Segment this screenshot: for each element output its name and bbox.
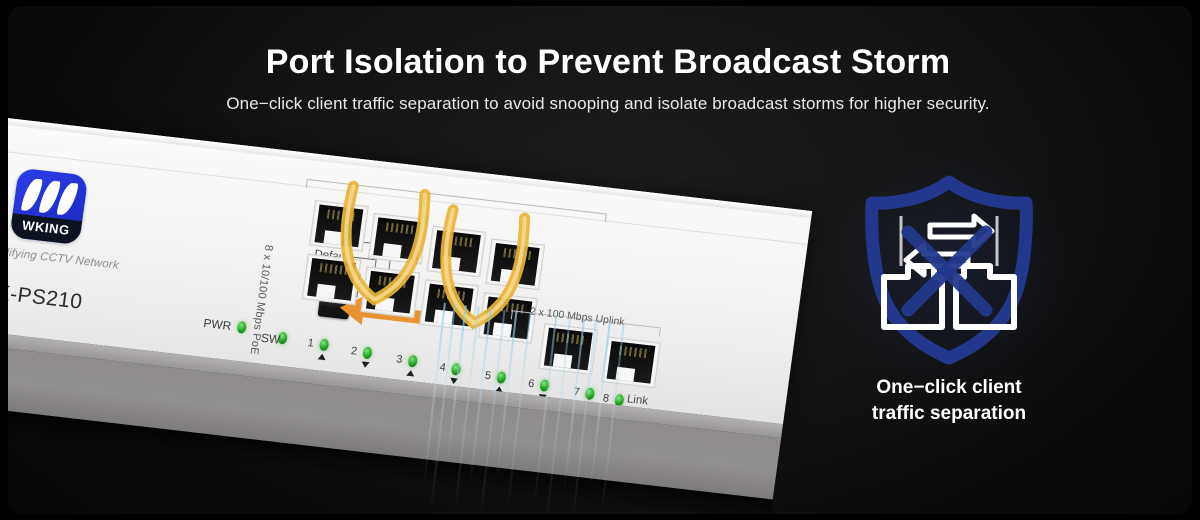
fiber-light-streaks [412,302,766,514]
promo-banner: Port Isolation to Prevent Broadcast Stor… [0,0,1200,520]
feature-caption-line2: traffic separation [846,401,1052,427]
port-led-label-3: 3 [395,353,403,366]
logo-waves [20,177,80,217]
dark-panel: Port Isolation to Prevent Broadcast Stor… [8,6,1192,514]
port-5[interactable] [427,226,487,278]
port-3[interactable] [368,213,428,265]
switch-led-label: SW [260,331,281,347]
feature-caption: One−click client traffic separation [846,375,1052,427]
logo-text: WKING [10,216,82,239]
feature-caption-line1: One−click client [846,375,1052,401]
port-led-3 [407,355,418,368]
shield-port-isolation-icon [846,170,1052,366]
logo-band: WKING [9,213,82,245]
feature-block: One−click client traffic separation [846,170,1052,430]
port-led-arrow-2 [361,361,370,368]
port-7[interactable] [485,238,545,290]
wking-wave-logo-icon: WKING [9,168,88,245]
port-4[interactable] [360,266,420,318]
power-led-label: PWR [203,316,233,333]
port-led-2 [362,347,373,360]
device-model-label: WK-PS210 [8,279,84,315]
port-1[interactable] [309,200,369,252]
port-led-label-2: 2 [350,345,358,358]
port-led-label-1: 1 [307,337,315,350]
port-2[interactable] [302,253,362,305]
port-led-arrow-3 [406,370,415,377]
power-led [236,321,247,334]
port-led-1 [319,338,330,351]
port-led-arrow-1 [318,353,327,360]
brand-tagline: Simplifying CCTV Network [8,244,149,275]
faceplate-top-edge [8,110,812,218]
page-title: Port Isolation to Prevent Broadcast Stor… [8,44,1192,81]
